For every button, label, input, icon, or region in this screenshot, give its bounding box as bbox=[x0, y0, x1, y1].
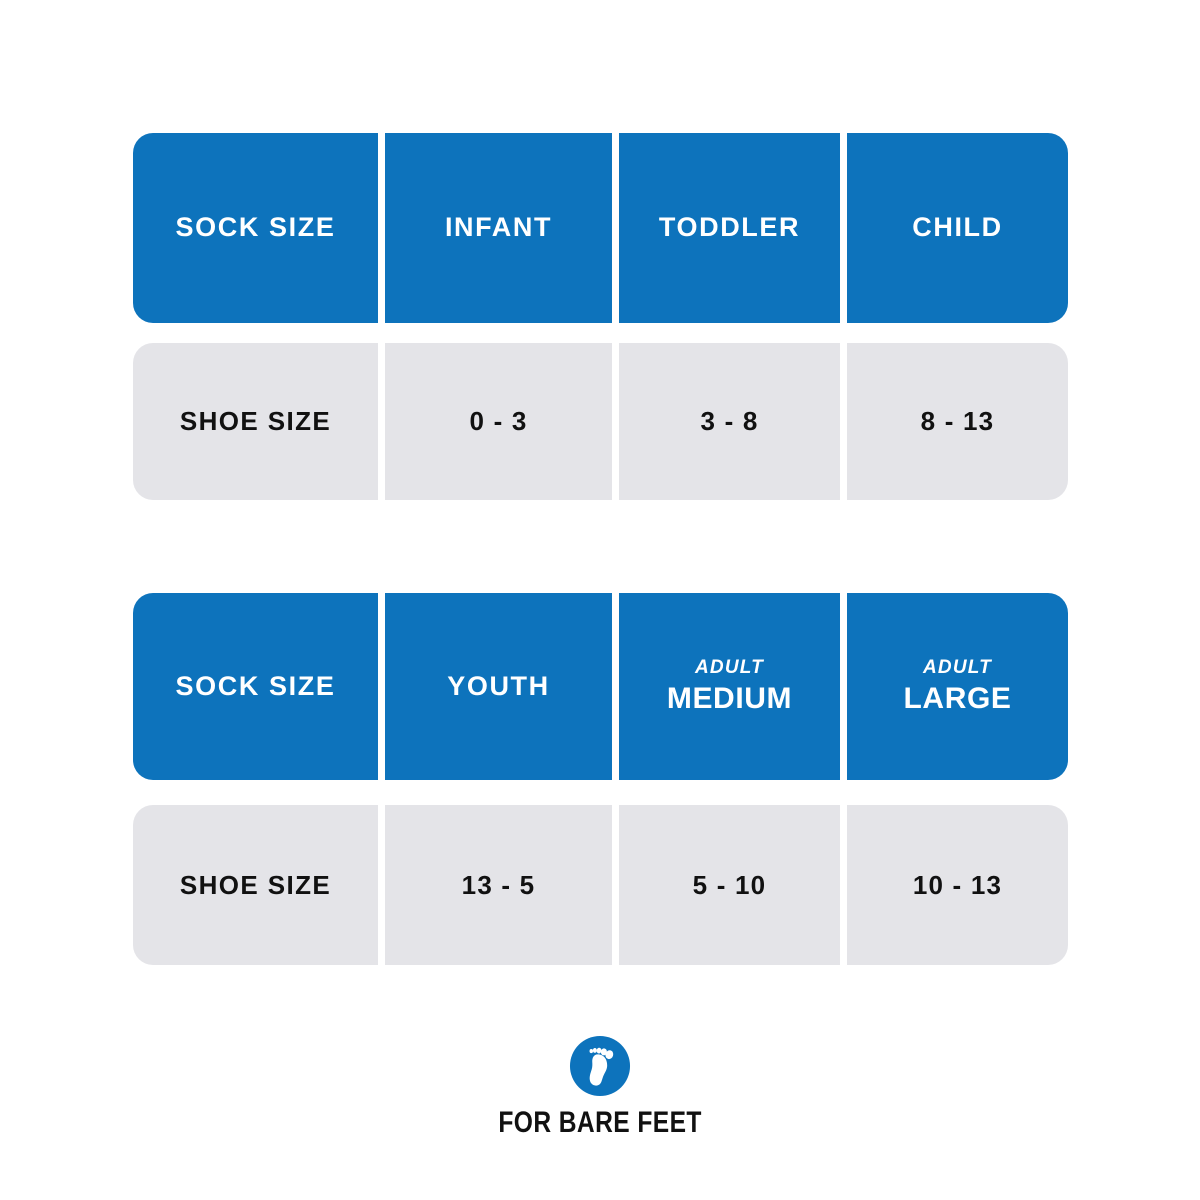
brand-wordmark: FOR BARE FEET bbox=[498, 1106, 702, 1140]
header-label: SOCK SIZE bbox=[176, 213, 336, 243]
size-chart-page: SOCK SIZE INFANT TODDLER CHILD SHOE SIZE… bbox=[0, 0, 1200, 1200]
footprint-in-circle-icon bbox=[569, 1035, 631, 1097]
header-label: LARGE bbox=[904, 682, 1012, 715]
data-value: 0 - 3 bbox=[469, 407, 527, 436]
header-label: CHILD bbox=[912, 213, 1003, 243]
data-value: 3 - 8 bbox=[700, 407, 758, 436]
header-label: SOCK SIZE bbox=[176, 672, 336, 702]
data-cell-shoe-size: SHOE SIZE bbox=[133, 805, 378, 965]
header-cell-adult-large: ADULT LARGE bbox=[847, 593, 1068, 780]
size-table-infant-child: SOCK SIZE INFANT TODDLER CHILD SHOE SIZE… bbox=[133, 133, 1068, 500]
data-cell-adult-large: 10 - 13 bbox=[847, 805, 1068, 965]
data-cell-shoe-size: SHOE SIZE bbox=[133, 343, 378, 500]
data-cell-toddler: 3 - 8 bbox=[619, 343, 840, 500]
header-cell-sock-size: SOCK SIZE bbox=[133, 593, 378, 780]
header-label: TODDLER bbox=[659, 213, 800, 243]
data-value: 10 - 13 bbox=[913, 871, 1002, 900]
header-cell-sock-size: SOCK SIZE bbox=[133, 133, 378, 323]
data-row-label: SHOE SIZE bbox=[180, 871, 331, 900]
data-cell-child: 8 - 13 bbox=[847, 343, 1068, 500]
size-table-youth-adult: SOCK SIZE YOUTH ADULT MEDIUM ADULT LARGE… bbox=[133, 593, 1068, 965]
table-data-row: SHOE SIZE 0 - 3 3 - 8 8 - 13 bbox=[133, 343, 1068, 500]
header-eyebrow-adult: ADULT bbox=[695, 658, 764, 679]
table-data-row: SHOE SIZE 13 - 5 5 - 10 10 - 13 bbox=[133, 805, 1068, 965]
brand-logo: FOR BARE FEET bbox=[0, 1035, 1200, 1140]
header-label: INFANT bbox=[445, 213, 552, 243]
header-eyebrow-adult: ADULT bbox=[923, 658, 992, 679]
table-header-row: SOCK SIZE YOUTH ADULT MEDIUM ADULT LARGE bbox=[133, 593, 1068, 780]
data-cell-adult-medium: 5 - 10 bbox=[619, 805, 840, 965]
header-cell-adult-medium: ADULT MEDIUM bbox=[619, 593, 840, 780]
header-cell-child: CHILD bbox=[847, 133, 1068, 323]
data-cell-infant: 0 - 3 bbox=[385, 343, 612, 500]
header-label: MEDIUM bbox=[667, 682, 792, 715]
data-row-label: SHOE SIZE bbox=[180, 407, 331, 436]
data-value: 13 - 5 bbox=[462, 871, 536, 900]
table-header-row: SOCK SIZE INFANT TODDLER CHILD bbox=[133, 133, 1068, 323]
header-cell-toddler: TODDLER bbox=[619, 133, 840, 323]
header-label: YOUTH bbox=[447, 672, 550, 702]
data-cell-youth: 13 - 5 bbox=[385, 805, 612, 965]
header-cell-infant: INFANT bbox=[385, 133, 612, 323]
header-cell-youth: YOUTH bbox=[385, 593, 612, 780]
data-value: 8 - 13 bbox=[921, 407, 995, 436]
data-value: 5 - 10 bbox=[693, 871, 767, 900]
